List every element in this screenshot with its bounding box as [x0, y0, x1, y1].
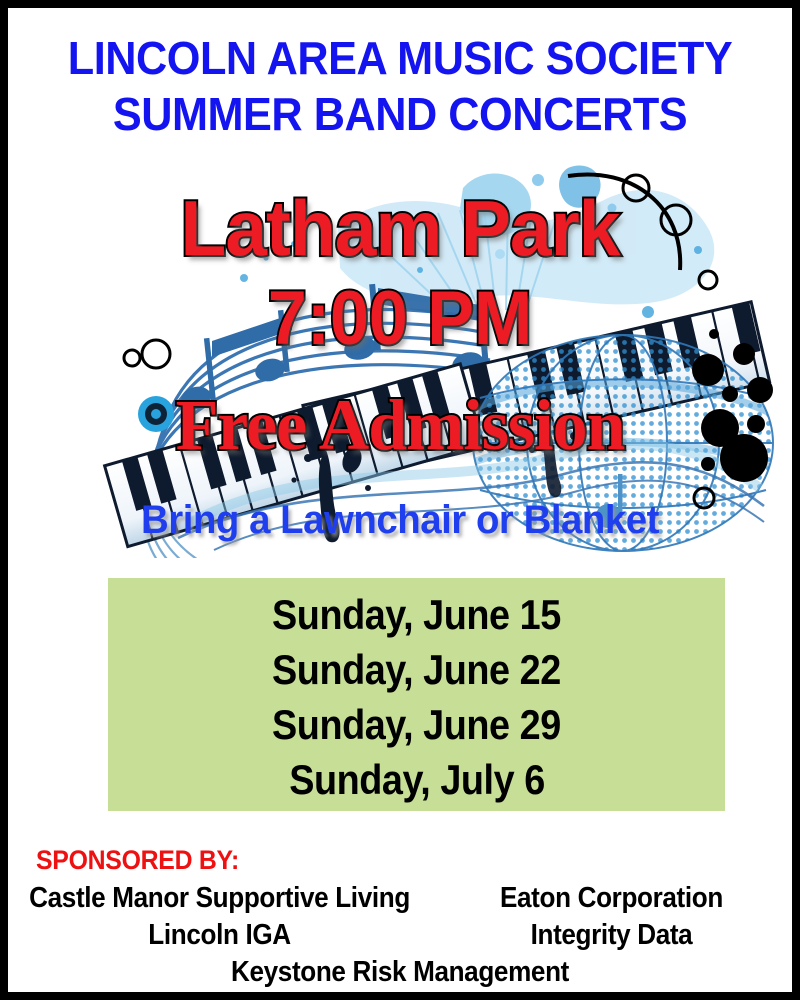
sponsor-column-left: Castle Manor Supportive Living Lincoln I…	[8, 880, 431, 954]
sponsor-columns: Castle Manor Supportive Living Lincoln I…	[8, 880, 792, 954]
sponsor-item: Keystone Risk Management	[47, 954, 753, 991]
date-item: Sunday, June 22	[272, 642, 561, 697]
blue-splash-group	[338, 165, 714, 304]
concert-poster: LINCOLN AREA MUSIC SOCIETY SUMMER BAND C…	[0, 0, 800, 1000]
sponsor-item: Integrity Data	[449, 917, 774, 954]
concert-dates-box: Sunday, June 15 Sunday, June 22 Sunday, …	[108, 578, 725, 811]
bring-lawnchair-text: Bring a Lawnchair or Blanket	[24, 496, 777, 544]
header-line-1: LINCOLN AREA MUSIC SOCIETY	[32, 30, 769, 86]
sponsor-item: Lincoln IGA	[29, 917, 410, 954]
sponsor-full-width-row: Keystone Risk Management	[8, 954, 792, 991]
header-line-2: SUMMER BAND CONCERTS	[32, 86, 769, 142]
date-item: Sunday, June 15	[272, 587, 561, 642]
date-item: Sunday, July 6	[289, 752, 545, 807]
sponsors-section: SPONSORED BY: Castle Manor Supportive Li…	[8, 844, 792, 991]
sponsor-item: Eaton Corporation	[449, 880, 774, 917]
sponsor-item: Castle Manor Supportive Living	[29, 880, 410, 917]
sponsored-by-heading: SPONSORED BY:	[36, 844, 732, 876]
poster-header: LINCOLN AREA MUSIC SOCIETY SUMMER BAND C…	[8, 30, 792, 142]
date-item: Sunday, June 29	[272, 697, 561, 752]
target-circle-icon	[138, 396, 174, 432]
sponsor-column-right: Eaton Corporation Integrity Data	[431, 880, 792, 954]
